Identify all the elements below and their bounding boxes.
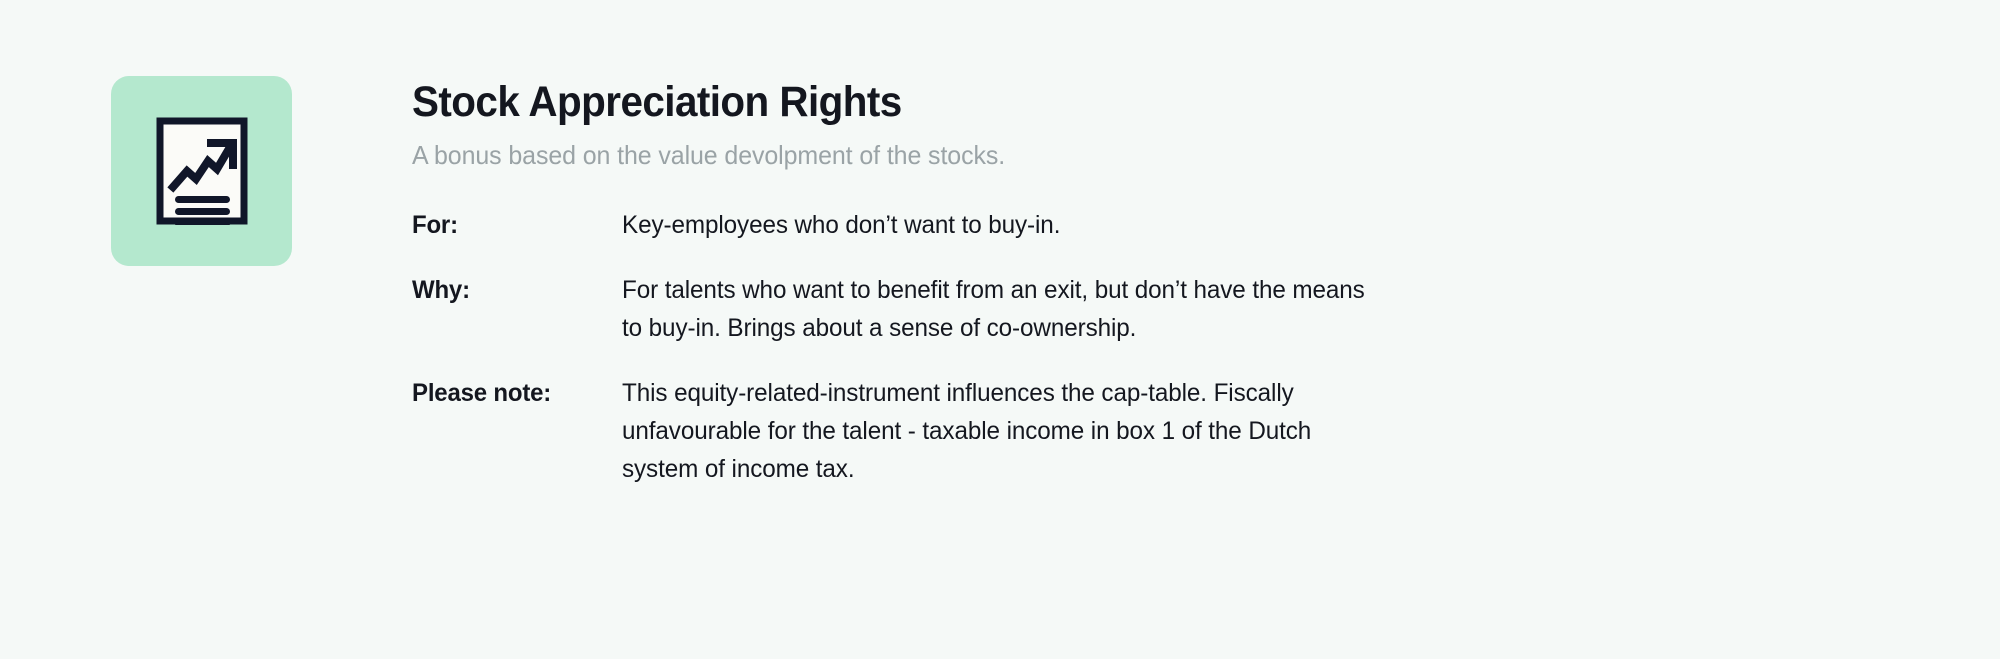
detail-label: Why: bbox=[412, 271, 614, 309]
detail-value: Key-employees who don’t want to buy-in. bbox=[622, 206, 1388, 244]
info-card: Stock Appreciation Rights A bonus based … bbox=[0, 0, 2000, 659]
card-subtitle: A bonus based on the value devolpment of… bbox=[412, 138, 1756, 172]
detail-label: For: bbox=[412, 206, 614, 244]
detail-rows: For: Key-employees who don’t want to buy… bbox=[412, 206, 1812, 488]
page-title: Stock Appreciation Rights bbox=[412, 76, 1728, 128]
detail-row-for: For: Key-employees who don’t want to buy… bbox=[412, 206, 1812, 244]
detail-label: Please note: bbox=[412, 374, 614, 412]
card-content: Stock Appreciation Rights A bonus based … bbox=[412, 76, 1812, 488]
detail-row-why: Why: For talents who want to benefit fro… bbox=[412, 271, 1812, 347]
detail-value: For talents who want to benefit from an … bbox=[622, 271, 1388, 347]
icon-tile bbox=[111, 76, 292, 266]
detail-value: This equity-related-instrument influence… bbox=[622, 374, 1388, 488]
detail-row-please-note: Please note: This equity-related-instrum… bbox=[412, 374, 1812, 488]
document-trending-up-icon bbox=[156, 117, 248, 225]
